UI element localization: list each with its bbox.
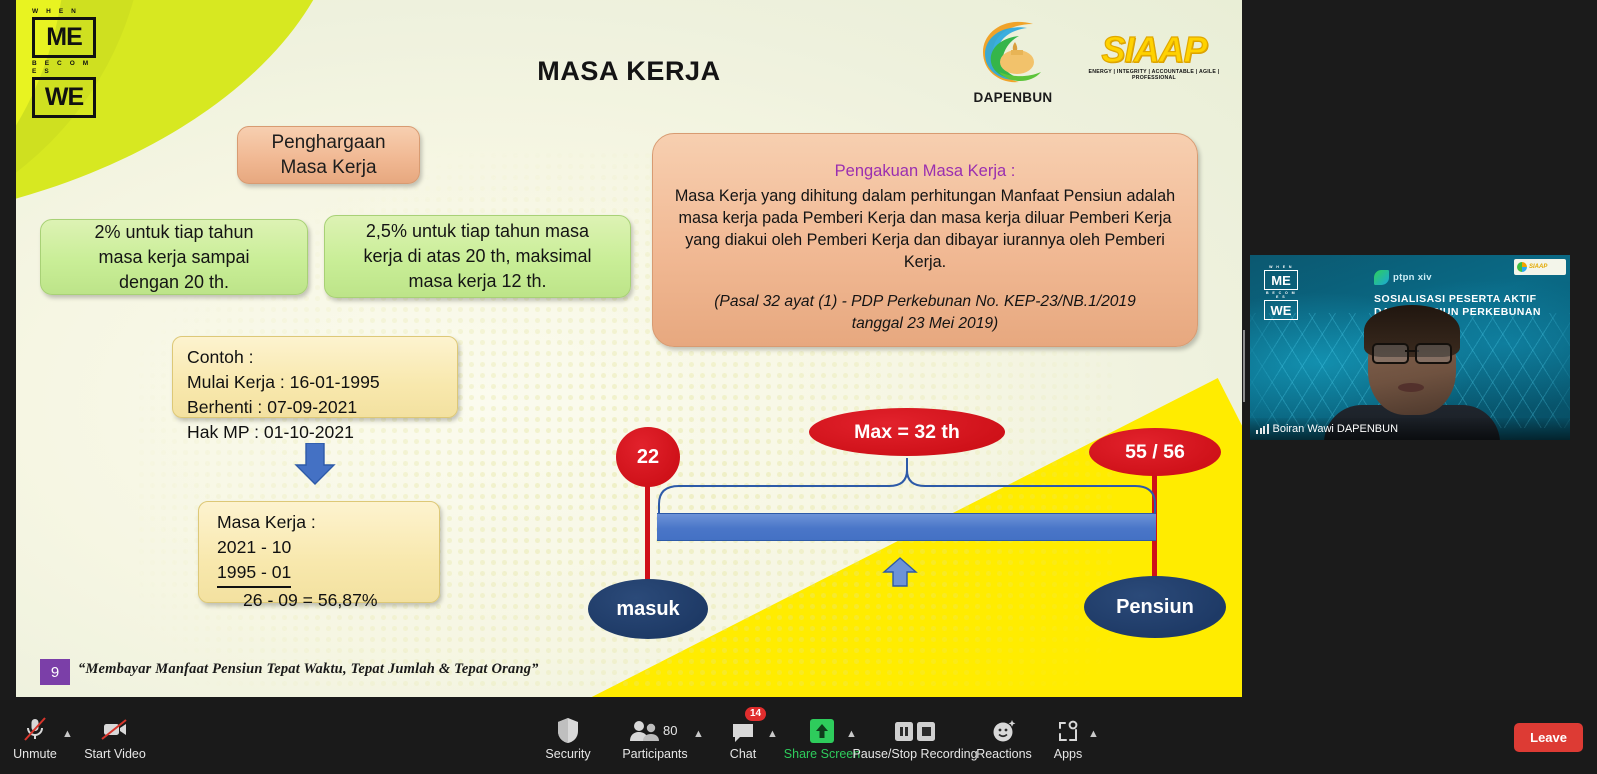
timeline-stem-left: [645, 470, 650, 596]
video-camera-off-icon: [99, 714, 131, 744]
corner-siaap-text: SIAAP: [1529, 264, 1547, 270]
thumb-mewe-logo: W H E N ME B E C O M E S WE: [1264, 265, 1298, 320]
timeline-start-bubble: masuk: [588, 579, 708, 639]
ptpn-brand: ptpn xiv: [1374, 270, 1432, 285]
recording-button-label: Pause/Stop Recording: [852, 747, 977, 761]
microphone-muted-icon: [20, 714, 50, 744]
signal-strength-icon: [1256, 424, 1269, 434]
speech-bubble-icon: 14: [731, 714, 755, 744]
share-screen-button-label: Share Screen: [784, 747, 860, 761]
mewe-we-text: WE: [45, 85, 83, 110]
masakerja-line4: 26 - 09 = 56,87%: [217, 588, 439, 613]
ptpn-brand-text: ptpn xiv: [1393, 272, 1432, 283]
apps-options-caret-icon[interactable]: ▲: [1088, 728, 1099, 740]
reactions-button[interactable]: Reactions: [975, 714, 1033, 761]
contoh-example-box: Contoh : Mulai Kerja : 16-01-1995 Berhen…: [172, 336, 458, 418]
mewe-when-text: W H E N: [32, 8, 98, 16]
timeline-age-entry-bubble: 22: [616, 427, 680, 487]
audio-options-caret-icon[interactable]: ▲: [62, 728, 73, 740]
pengakuan-heading: Pengakuan Masa Kerja :: [671, 162, 1179, 181]
thumb-corner-logo: SIAAP: [1514, 259, 1566, 275]
chat-button[interactable]: 14 Chat: [722, 714, 764, 761]
chat-unread-badge: 14: [745, 707, 766, 721]
pengakuan-reference-line1: (Pasal 32 ayat (1) - PDP Perkebunan No. …: [671, 291, 1179, 313]
vbg-title-line1: SOSIALISASI PESERTA AKTIF: [1374, 293, 1541, 306]
penghargaan-masa-kerja-box: Penghargaan Masa Kerja: [237, 126, 420, 184]
contoh-line2: Mulai Kerja : 16-01-1995: [187, 370, 457, 395]
start-video-button[interactable]: Start Video: [84, 714, 146, 761]
masakerja-line2: 2021 - 10: [217, 535, 439, 560]
leave-button[interactable]: Leave: [1514, 723, 1583, 752]
people-icon: 80: [629, 714, 681, 744]
masa-kerja-calculation-box: Masa Kerja : 2021 - 10 1995 - 01 26 - 09…: [198, 501, 440, 603]
start-video-button-label: Start Video: [84, 747, 146, 761]
mewe-me-text: ME: [46, 25, 82, 50]
participant-name-bar: Boiran Wawi DAPENBUN: [1250, 418, 1570, 440]
mewe-me-block: ME: [32, 17, 96, 58]
reactions-button-label: Reactions: [976, 747, 1032, 761]
recording-button[interactable]: Pause/Stop Recording: [862, 714, 968, 761]
participant-mouth: [1398, 383, 1424, 392]
thumb-mewe-me: ME: [1264, 270, 1298, 290]
mute-button[interactable]: Unmute: [12, 714, 58, 761]
rate-2-percent-box: 2% untuk tiap tahun masa kerja sampai de…: [40, 219, 308, 295]
penghargaan-line1: Penghargaan: [271, 130, 385, 155]
down-arrow-icon: [293, 443, 337, 485]
participants-options-caret-icon[interactable]: ▲: [693, 728, 704, 740]
presentation-slide[interactable]: W H E N ME B E C O M E S WE: [16, 0, 1242, 697]
rate25-line1: 2,5% untuk tiap tahun masa: [363, 219, 591, 244]
shared-screen-stage: W H E N ME B E C O M E S WE: [0, 0, 1597, 700]
panel-drag-handle[interactable]: [1243, 330, 1247, 366]
pengakuan-reference-line2: tanggal 23 Mei 2019): [671, 313, 1179, 335]
masakerja-line1: Masa Kerja :: [217, 510, 439, 535]
thumb-mewe-when: W H E N: [1264, 265, 1298, 269]
apps-button-label: Apps: [1054, 747, 1083, 761]
participant-video-tile[interactable]: W H E N ME B E C O M E S WE ptpn xiv SOS…: [1250, 255, 1570, 440]
zoom-meeting-window: W H E N ME B E C O M E S WE: [0, 0, 1597, 774]
dapenbun-label: DAPENBUN: [966, 90, 1060, 105]
security-button[interactable]: Security: [540, 714, 596, 761]
up-arrow-icon: [809, 714, 835, 744]
apps-icon: [1056, 714, 1080, 744]
smiley-icon: [991, 714, 1017, 744]
slide-title: MASA KERJA: [16, 56, 1242, 87]
shield-icon: [556, 714, 580, 744]
zoom-toolbar: Unmute ▲ Start Video Security: [0, 700, 1597, 774]
rate2-line3: dengan 20 th.: [94, 270, 253, 295]
timeline-max-bubble: Max = 32 th: [809, 408, 1005, 456]
contoh-line4: Hak MP : 01-10-2021: [187, 420, 457, 445]
timeline-brace: [657, 456, 1157, 518]
thumb-mewe-we: WE: [1264, 300, 1298, 320]
slide-page-number: 9: [40, 659, 70, 685]
rate2-line2: masa kerja sampai: [94, 245, 253, 270]
pause-stop-icon: [891, 714, 939, 744]
pengakuan-body: Masa Kerja yang dihitung dalam perhitung…: [671, 185, 1179, 273]
chat-button-label: Chat: [730, 747, 756, 761]
apps-button[interactable]: Apps: [1046, 714, 1090, 761]
svg-text:80: 80: [663, 723, 677, 738]
contoh-line3: Berhenti : 07-09-2021: [187, 395, 457, 420]
masakerja-line3: 1995 - 01: [217, 560, 291, 588]
rate2-line1: 2% untuk tiap tahun: [94, 220, 253, 245]
slide-footer-tagline: “Membayar Manfaat Pensiun Tepat Waktu, T…: [78, 661, 539, 678]
timeline-end-bubble: Pensiun: [1084, 576, 1226, 638]
rate25-line3: masa kerja 12 th.: [363, 269, 591, 294]
ptpn-leaf-icon: [1374, 270, 1389, 285]
share-options-caret-icon[interactable]: ▲: [846, 728, 857, 740]
eyeglasses-icon: [1372, 343, 1452, 360]
penghargaan-line2: Masa Kerja: [271, 155, 385, 180]
participant-name: Boiran Wawi DAPENBUN: [1273, 423, 1399, 435]
timeline-age-retire-bubble: 55 / 56: [1089, 428, 1221, 476]
mute-button-label: Unmute: [13, 747, 57, 761]
up-arrow-icon: [882, 557, 918, 587]
security-button-label: Security: [545, 747, 590, 761]
rate25-line2: kerja di atas 20 th, maksimal: [363, 244, 591, 269]
pengakuan-masa-kerja-box: Pengakuan Masa Kerja : Masa Kerja yang d…: [652, 133, 1198, 347]
corner-dapenbun-icon: [1517, 262, 1527, 272]
contoh-line1: Contoh :: [187, 345, 457, 370]
participants-button[interactable]: 80 Participants: [620, 714, 690, 761]
chat-options-caret-icon[interactable]: ▲: [767, 728, 778, 740]
participants-button-label: Participants: [622, 747, 687, 761]
thumb-mewe-becomes: B E C O M E S: [1264, 291, 1298, 299]
rate-2-5-percent-box: 2,5% untuk tiap tahun masa kerja di atas…: [324, 215, 631, 298]
timeline-bar: [657, 513, 1156, 541]
